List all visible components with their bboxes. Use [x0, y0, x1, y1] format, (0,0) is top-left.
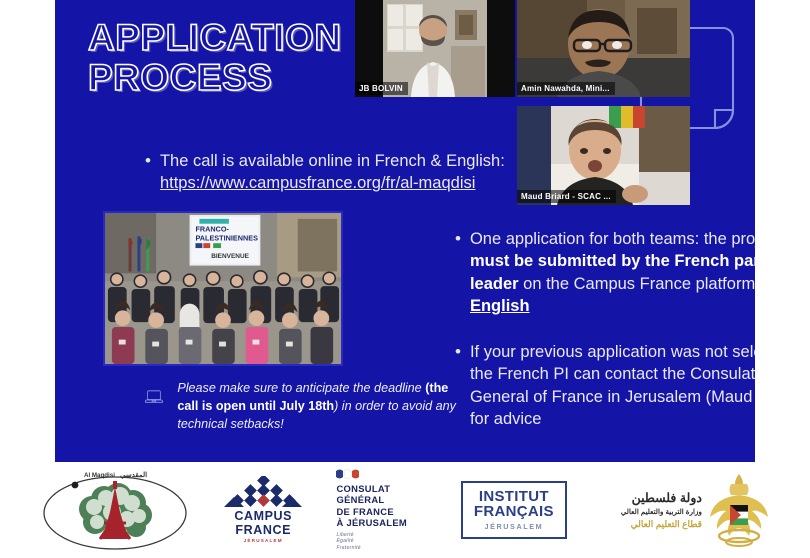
palestine-line3: قطاع التعليم العالي: [621, 519, 702, 530]
projected-line2: PALESTINIENNES: [195, 233, 258, 242]
palestine-eagle-emblem-icon: [708, 472, 770, 548]
participant-name-label: Amin Nawahda, Mini...: [517, 82, 615, 95]
partner-logo-bar: Al Maqdisi المقدسي: [0, 462, 810, 558]
logo-al-maqdisi: Al Maqdisi المقدسي: [40, 467, 190, 553]
bullet-dot-icon: •: [455, 228, 461, 318]
institut-line2: FRANÇAIS: [474, 505, 554, 519]
page-title: APPLICATION PROCESS: [88, 18, 342, 98]
bullet-call-online: • The call is available online in French…: [145, 150, 575, 194]
deadline-note: Please make sure to anticipate the deadl…: [145, 380, 467, 434]
palestine-line2: وزارة التربية والتعليم العالي: [621, 507, 702, 516]
campus-france-link[interactable]: https://www.campusfrance.org/fr/al-maqdi…: [160, 174, 475, 192]
al-maqdisi-name-ar: المقدسي: [120, 471, 147, 479]
motto-fraternite: Fraternité: [336, 545, 407, 552]
al-maqdisi-name-en: Al Maqdisi: [84, 472, 115, 479]
video-tile-jb-bolvin[interactable]: JB BOLVIN: [355, 0, 515, 97]
palestine-line1: دولة فلسطين: [621, 490, 702, 505]
logo-palestine-ministry: دولة فلسطين وزارة التربية والتعليم العال…: [593, 472, 770, 548]
bullet-apply-part1: One application for both teams: the proj…: [470, 230, 755, 248]
group-photo: FRANCO- PALESTINIENNES BIENVENUE: [103, 211, 343, 366]
bullet-call-online-text: The call is available online in French &…: [160, 152, 505, 170]
campus-france-sub: JÉRUSALEM: [234, 539, 292, 544]
consulat-line4: À JÉRUSALEM: [336, 517, 407, 528]
bullet-dot-icon: •: [145, 150, 151, 194]
campus-france-line2: FRANCE: [234, 524, 292, 537]
logo-consulat-general-france: CONSULAT GÉNÉRAL DE FRANCE À JÉRUSALEM L…: [336, 469, 434, 551]
laptop-icon: [145, 380, 163, 414]
consulat-line3: DE FRANCE: [336, 506, 407, 517]
bullet-previous-text: If your previous application was not sel…: [470, 341, 755, 431]
bullet-one-application: • One application for both teams: the pr…: [455, 228, 755, 318]
logo-institut-francais: INSTITUT FRANÇAIS JÉRUSALEM: [461, 481, 567, 539]
french-flag-icon: [336, 469, 368, 479]
group-photo-image: FRANCO- PALESTINIENNES BIENVENUE: [105, 213, 341, 364]
logo-campus-france: CAMPUS FRANCE JÉRUSALEM: [216, 476, 310, 543]
consulat-line2: GÉNÉRAL: [336, 494, 407, 505]
projected-line1: FRANCO-: [195, 225, 229, 234]
note-part1: Please make sure to anticipate the deadl…: [177, 381, 425, 395]
bullet-previous-application: • If your previous application was not s…: [455, 341, 755, 431]
video-tile-amin-nawahda[interactable]: Amin Nawahda, Mini...: [517, 0, 690, 97]
campus-france-line1: CAMPUS: [234, 510, 292, 523]
slide-canvas: APPLICATION PROCESS JB BOLVIN: [55, 0, 755, 462]
participant-name-label: JB BOLVIN: [355, 82, 408, 95]
bullet-apply-part2: on the Campus France platform: [519, 275, 755, 293]
projected-welcome: BIENVENUE: [211, 253, 249, 260]
consulat-line1: CONSULAT: [336, 483, 407, 494]
slide-presentation-view: APPLICATION PROCESS JB BOLVIN: [0, 0, 810, 558]
al-maqdisi-emblem-icon: [40, 467, 190, 553]
campus-france-diamond-icon: [224, 476, 302, 510]
institut-sub: JÉRUSALEM: [474, 522, 554, 531]
